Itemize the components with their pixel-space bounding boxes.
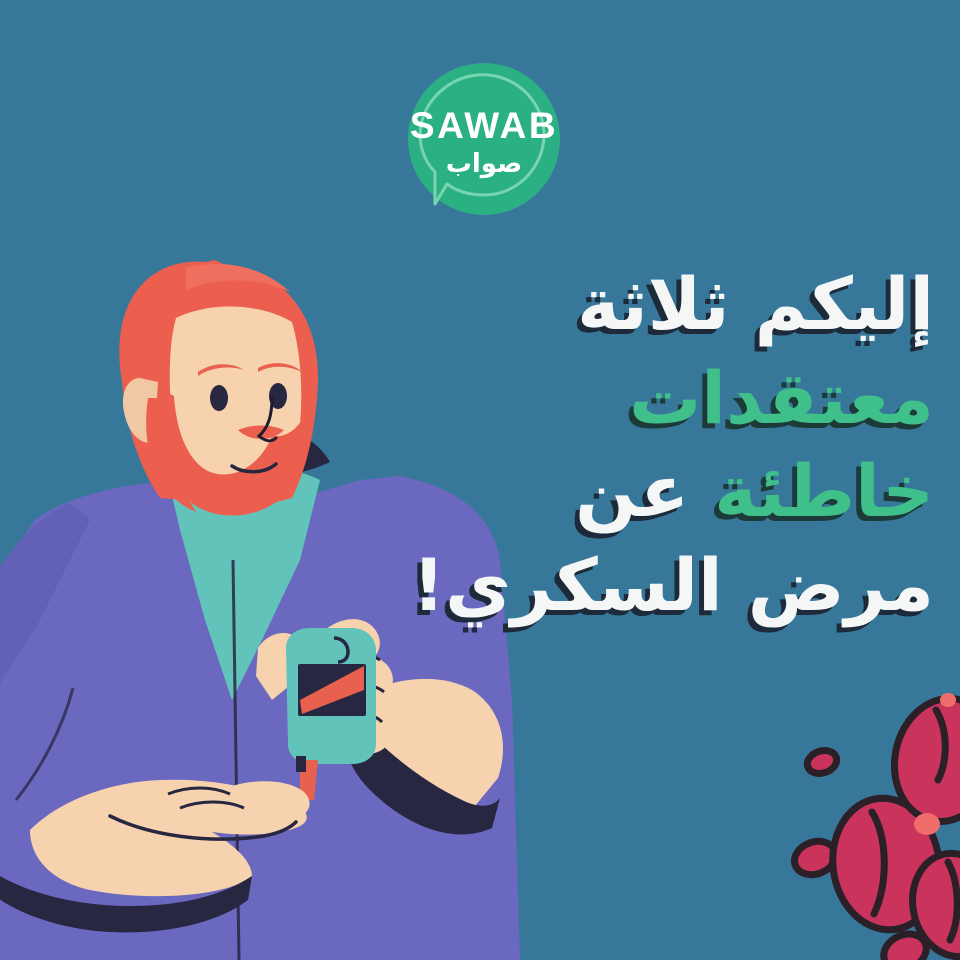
headline-line-3: خاطئة عن (374, 445, 934, 539)
headline-word-emphasis: خاطئة (714, 449, 934, 533)
poster-canvas: SAWAB صواب إليكم ثلاثة معتقدات خاطئة عن … (0, 0, 960, 960)
logo-wordmark-latin: SAWAB (408, 107, 560, 144)
logo-wordmark-arabic: صواب (408, 151, 560, 177)
headline-word-plain: مرض السكري! (412, 543, 934, 627)
headline: إليكم ثلاثة معتقدات خاطئة عن مرض السكري! (374, 258, 934, 632)
headline-word-emphasis: معتقدات (629, 356, 934, 440)
headline-word-plain: إليكم ثلاثة (577, 262, 934, 346)
headline-word-plain: عن (575, 449, 714, 533)
headline-line-1: إليكم ثلاثة (374, 258, 934, 352)
headline-line-2: معتقدات (374, 352, 934, 446)
sawab-logo[interactable]: SAWAB صواب (408, 63, 560, 215)
headline-line-4: مرض السكري! (374, 539, 934, 633)
